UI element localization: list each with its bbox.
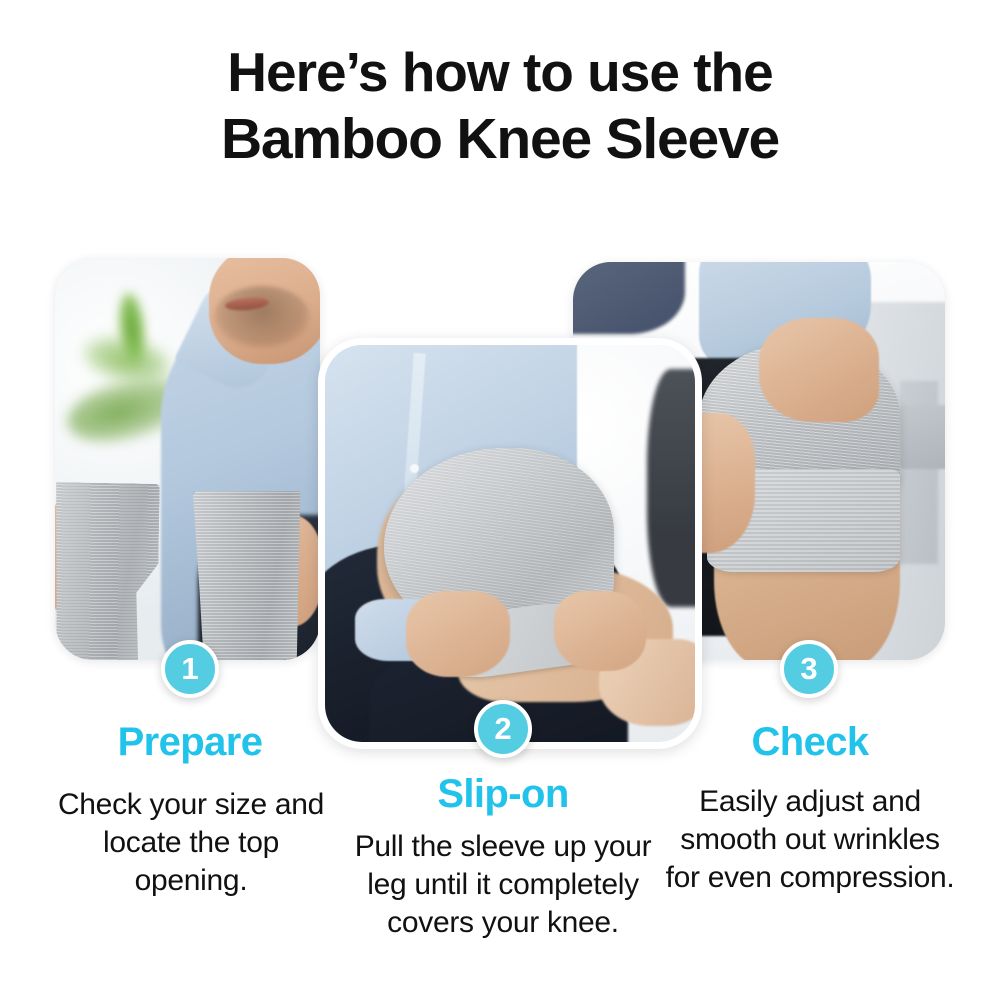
right-hand — [554, 591, 646, 671]
step-1-photo — [55, 258, 320, 660]
step-1-image-card — [55, 258, 320, 660]
right-hand — [759, 318, 879, 422]
knee-sleeve-product — [193, 491, 305, 660]
step-2-photo — [325, 345, 695, 742]
step-1-caption: Check your size and locate the top openi… — [50, 786, 332, 899]
left-hand — [406, 591, 510, 677]
step-3-number-badge: 3 — [780, 640, 838, 698]
page-title-line-1: Here’s how to use the — [0, 42, 1000, 104]
page-title-line-2: Bamboo Knee Sleeve — [0, 108, 1000, 172]
step-3-caption: Easily adjust and smooth out wrinkles fo… — [660, 783, 960, 896]
scene-slip-on — [325, 345, 695, 742]
step-2-caption: Pull the sleeve up your leg until it com… — [343, 828, 663, 941]
furniture-edge — [900, 405, 945, 469]
step-2-image-card — [318, 338, 702, 749]
scene-prepare — [55, 258, 320, 660]
page-title: Here’s how to use the Bamboo Knee Sleeve — [0, 42, 1000, 171]
infographic-page: Here’s how to use the Bamboo Knee Sleeve — [0, 0, 1000, 1000]
step-1-title: Prepare — [40, 720, 340, 765]
step-2-title: Slip-on — [353, 772, 653, 817]
person-beard — [214, 286, 310, 348]
step-2-number-badge: 2 — [474, 700, 532, 758]
step-1-number-badge: 1 — [161, 640, 219, 698]
step-3-title: Check — [660, 720, 960, 765]
dark-background-shape — [647, 369, 695, 607]
